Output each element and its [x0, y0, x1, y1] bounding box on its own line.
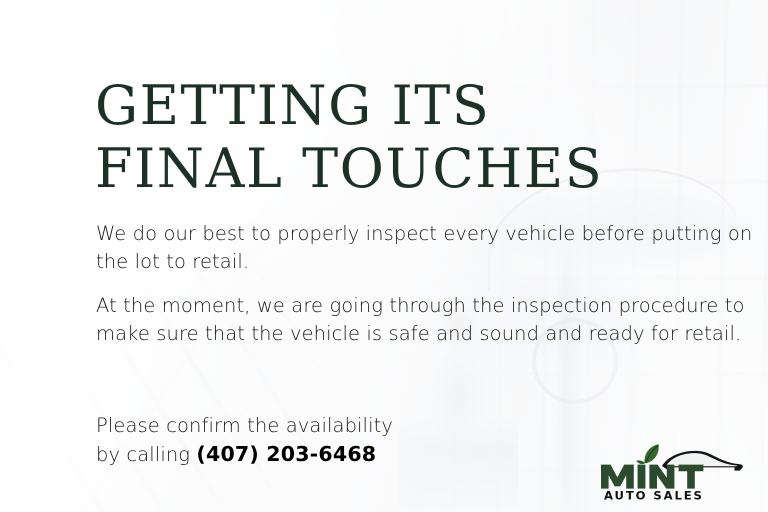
headline-line-2: FINAL TOUCHES [95, 137, 603, 200]
headline: GETTING ITS FINAL TOUCHES [95, 74, 603, 200]
paragraph-inspection-status: At the moment, we are going through the … [96, 292, 768, 348]
card-content: GETTING ITS FINAL TOUCHES We do our best… [0, 0, 768, 512]
leaf-icon [636, 444, 658, 464]
logo-tagline: AUTO SALES [604, 489, 704, 502]
availability-line-1: Please confirm the availability [96, 414, 393, 437]
promo-card: GETTING ITS FINAL TOUCHES We do our best… [0, 0, 768, 512]
availability-line-2-prefix: by calling [96, 443, 190, 466]
mint-auto-sales-logo[interactable]: AUTO SALES [600, 440, 750, 502]
headline-line-1: GETTING ITS [95, 74, 603, 137]
logo-wordmark-mint [601, 465, 703, 489]
paragraph-availability: Please confirm the availability by calli… [96, 412, 393, 469]
paragraph-inspection-promise: We do our best to properly inspect every… [96, 220, 768, 276]
phone-number[interactable]: (407) 203-6468 [196, 442, 376, 466]
